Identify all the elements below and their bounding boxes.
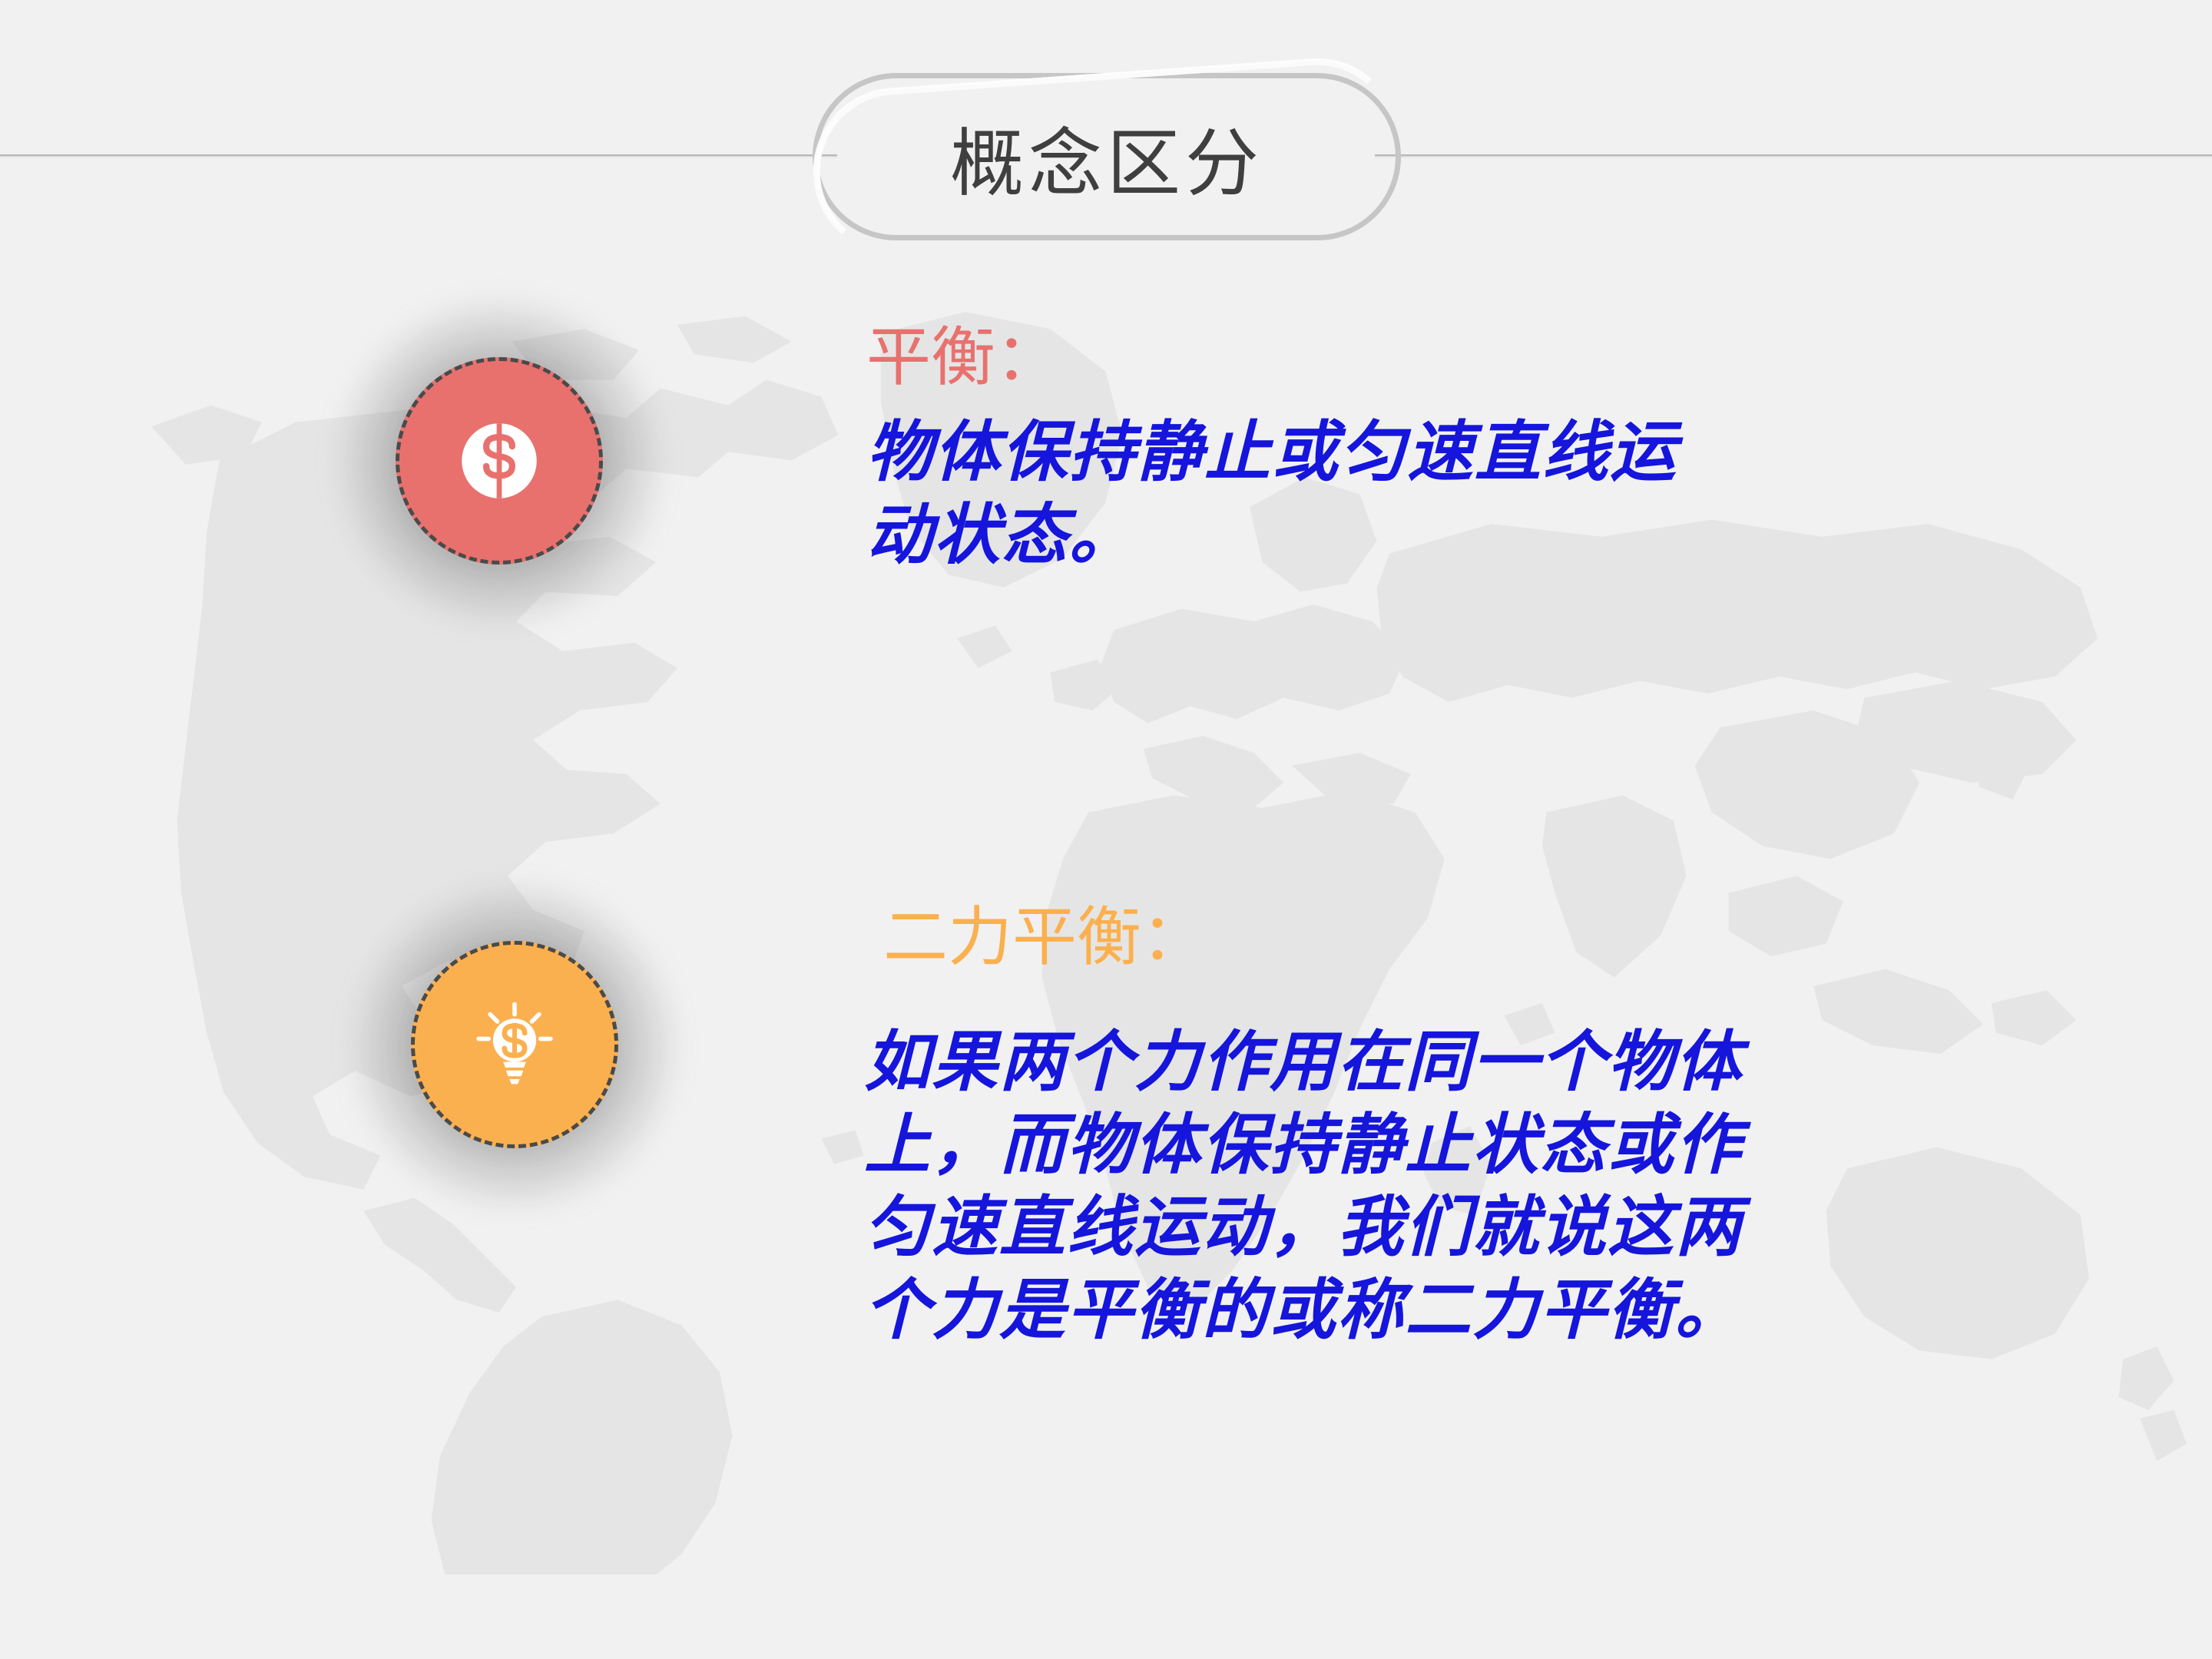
section-two-force-heading: 二力平衡： <box>883 902 1206 975</box>
section-balance: 平衡： 物体保持静止或匀速直线运动状态。 <box>866 323 1742 577</box>
section-two-force: 如果两个力作用在同一个物体上，而物体保持静止状态或作匀速直线运动，我们就说这两个… <box>864 1022 1801 1352</box>
dollar-coin-icon <box>453 415 545 507</box>
title-connector-line-left <box>0 154 837 158</box>
section-two-force-body: 如果两个力作用在同一个物体上，而物体保持静止状态或作匀速直线运动，我们就说这两个… <box>864 1022 1786 1352</box>
slide-canvas: 概念区分 <box>0 0 2212 1659</box>
badge-two-force[interactable] <box>411 941 618 1148</box>
lightbulb-dollar-icon <box>469 998 561 1091</box>
section-two-force-heading-wrap: 二力平衡： <box>883 902 1206 975</box>
section-balance-body: 物体保持静止或匀速直线运动状态。 <box>866 412 1704 577</box>
badge-balance[interactable] <box>396 357 603 565</box>
page-title: 概念区分 <box>813 73 1401 240</box>
section-balance-heading: 平衡： <box>866 323 1742 395</box>
title-connector-line-right <box>1375 154 2212 158</box>
